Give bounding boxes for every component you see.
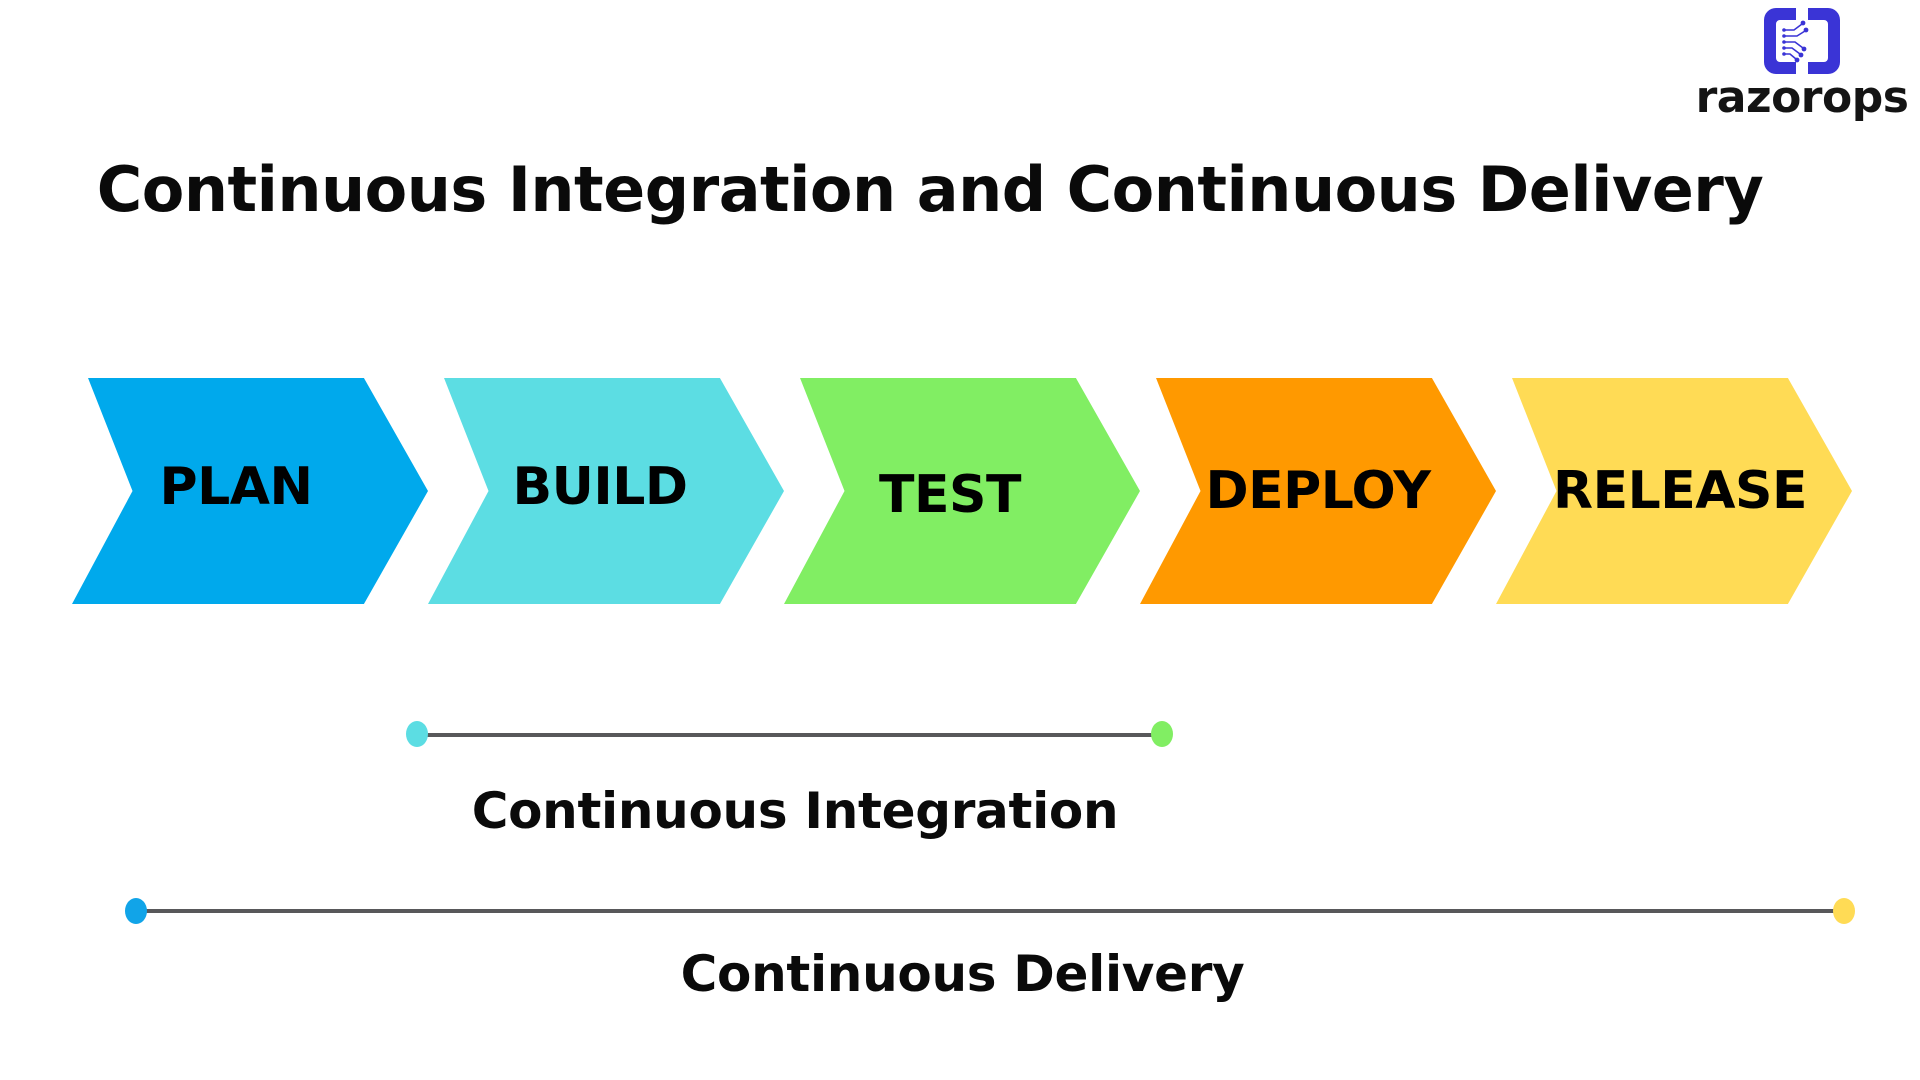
pipeline-stage-label: BUILD — [512, 457, 687, 517]
page-title: Continuous Integration and Continuous De… — [0, 156, 1860, 224]
continuous-delivery-end-dot — [1833, 898, 1855, 924]
pipeline-stages: PLAN BUILD TEST DEPLOY RELEASE — [0, 378, 1920, 608]
continuous-integration-end-dot — [1151, 721, 1173, 747]
pipeline-stage-label: DEPLOY — [1205, 461, 1430, 521]
razorops-bracket-circuit-icon — [1762, 4, 1842, 78]
pipeline-stage-test[interactable]: TEST — [784, 378, 1140, 604]
continuous-delivery-span-line — [142, 909, 1842, 913]
brand-wordmark: razorops — [1696, 76, 1909, 120]
continuous-integration-caption: Continuous Integration — [0, 782, 1590, 840]
continuous-integration-span-line — [422, 733, 1164, 737]
continuous-delivery-caption: Continuous Delivery — [0, 945, 1920, 1003]
pipeline-stage-label: RELEASE — [1553, 461, 1807, 521]
pipeline-stage-plan[interactable]: PLAN — [72, 378, 428, 604]
pipeline-stage-release[interactable]: RELEASE — [1496, 378, 1852, 604]
pipeline-stage-label: PLAN — [159, 457, 312, 517]
pipeline-stage-build[interactable]: BUILD — [428, 378, 784, 604]
continuous-delivery-start-dot — [125, 898, 147, 924]
pipeline-stage-label: TEST — [879, 465, 1021, 525]
continuous-integration-start-dot — [406, 721, 428, 747]
pipeline-stage-deploy[interactable]: DEPLOY — [1140, 378, 1496, 604]
brand-logo: razorops — [1690, 4, 1914, 122]
